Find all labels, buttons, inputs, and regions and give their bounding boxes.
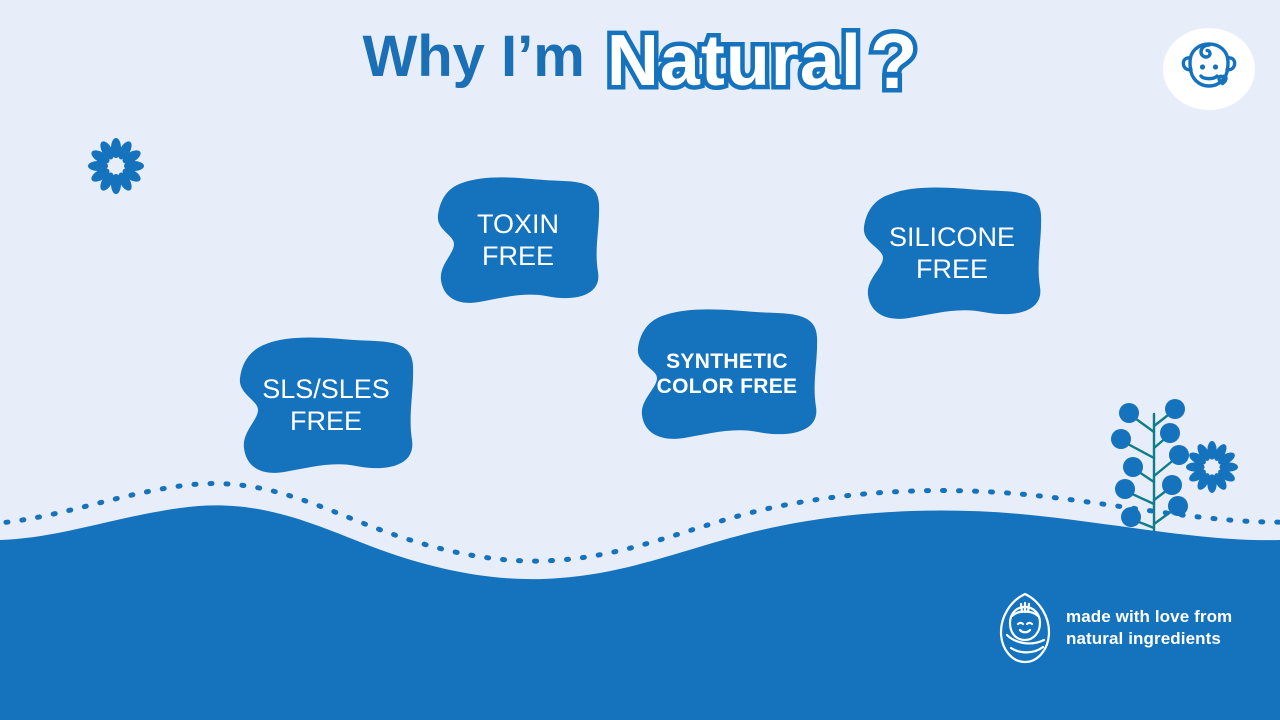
footer-tagline: made with love from natural ingredients — [1066, 606, 1232, 650]
page-title: Why I’mNatural? — [0, 22, 1280, 100]
footer-brand-badge: made with love from natural ingredients — [998, 592, 1232, 664]
daisy-flower-icon — [88, 138, 144, 194]
claim-label: SLS/SLES FREE — [262, 373, 390, 438]
baby-face-icon — [1178, 40, 1240, 98]
claim-badge-sls[interactable]: SLS/SLES FREE — [236, 336, 416, 474]
claim-label: SILICONE FREE — [889, 221, 1015, 286]
claim-badge-silicone[interactable]: SILICONE FREE — [860, 186, 1044, 320]
claim-badge-toxin[interactable]: TOXIN FREE — [434, 176, 602, 304]
claim-badge-synthetic-color[interactable]: SYNTHETIC COLOR FREE — [634, 308, 820, 440]
claim-label: SYNTHETIC COLOR FREE — [657, 349, 798, 399]
baby-face-badge — [1163, 28, 1255, 110]
title-plain-text: Why I’m — [362, 28, 584, 94]
swaddled-baby-icon — [998, 592, 1052, 664]
claim-label: TOXIN FREE — [477, 208, 559, 273]
title-highlight-text: Natural — [607, 25, 862, 97]
title-question-mark: ? — [870, 22, 918, 100]
slide-canvas: Why I’mNatural? SLS/SLES FREE TOXIN — [0, 0, 1280, 720]
